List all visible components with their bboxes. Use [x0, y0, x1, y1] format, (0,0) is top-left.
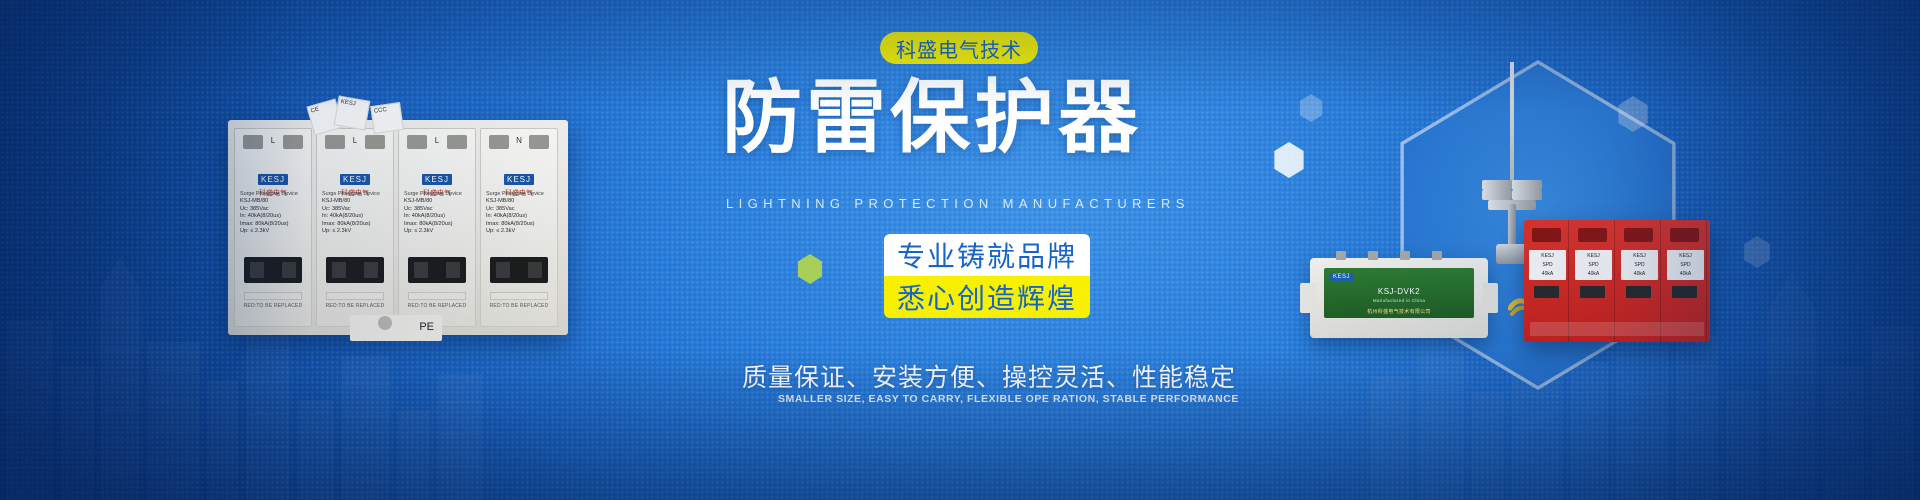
indicator-window — [244, 257, 302, 283]
spec-up: Up: ≤ 2.3kV — [404, 228, 470, 235]
indicator-window — [408, 257, 466, 283]
spec-uc: Uc: 385Vac — [486, 206, 552, 213]
status-bar — [244, 292, 302, 300]
spd-spec-4: Surge Protective Device KSJ-MB/80 Uc: 38… — [486, 191, 552, 235]
spd-module-1: L KESJ 科盛电气 Surge Protective Device KSJ-… — [234, 128, 312, 327]
red-label-type: SPD — [1529, 262, 1566, 268]
pcb-face: KESJ KSJ-DVK2 Manufactured in China 杭州科盛… — [1324, 268, 1474, 318]
red-label-brand: KESJ — [1529, 253, 1566, 259]
hexagon-accent-2 — [1298, 94, 1324, 122]
red-label-brand: KESJ — [1667, 253, 1704, 259]
red-label-brand: KESJ — [1621, 253, 1658, 259]
slogan-line-1: 专业铸就品牌 — [884, 234, 1090, 276]
feature-list-en: SMALLER SIZE, EASY TO CARRY, FLEXIBLE OP… — [778, 393, 1239, 405]
status-bar — [326, 292, 384, 300]
spec-uc: Uc: 385Vac — [404, 206, 470, 213]
red-label-rating: 40kA — [1529, 271, 1566, 277]
spec-imax: Imax: 80kA(8/20us) — [322, 221, 388, 228]
spec-up: Up: ≤ 2.3kV — [322, 228, 388, 235]
banner-root: L KESJ 科盛电气 Surge Protective Device KSJ-… — [0, 0, 1920, 500]
rod-head-assembly — [1482, 180, 1542, 206]
spec-up: Up: ≤ 2.3kV — [486, 228, 552, 235]
rod-mast — [1510, 62, 1514, 188]
spec-imax: Imax: 80kA(8/20us) — [240, 221, 306, 228]
signal-spd-box: KESJ KSJ-DVK2 Manufactured in China 杭州科盛… — [1310, 258, 1488, 338]
indicator-window — [326, 257, 384, 283]
red-label-rating: 40kA — [1575, 271, 1612, 277]
greenbox-brand: KESJ — [1330, 273, 1353, 281]
spec-up: Up: ≤ 2.3kV — [240, 228, 306, 235]
spd-module-4: N KESJ 科盛电气 Surge Protective Device KSJ-… — [480, 128, 558, 327]
red-label-type: SPD — [1621, 262, 1658, 268]
replace-note-4: RED:TO BE REPLACED — [481, 303, 557, 309]
spd-pole-label-1: L — [235, 136, 311, 145]
replace-note-3: RED:TO BE REPLACED — [399, 303, 475, 309]
spec-in: In: 40kA(8/20us) — [404, 213, 470, 220]
spec-type: Surge Protective Device — [322, 191, 388, 198]
spec-model: KSJ-MB/80 — [486, 198, 552, 205]
feature-list-cn: 质量保证、安装方便、操控灵活、性能稳定 — [742, 358, 1236, 394]
slogan-line-2: 悉心创造辉煌 — [884, 276, 1090, 318]
slogan-block: 专业铸就品牌 悉心创造辉煌 — [884, 234, 1090, 318]
hexagon-accent-4 — [1742, 236, 1772, 268]
red-label-type: SPD — [1575, 262, 1612, 268]
indicator-window — [490, 257, 548, 283]
brand-mark: KESJ — [340, 174, 370, 185]
page-title: 防雷保护器 — [722, 78, 1142, 158]
subtitle-english: LIGHTNING PROTECTION MANUFACTURERS — [726, 196, 1190, 211]
spec-uc: Uc: 385Vac — [322, 206, 388, 213]
pe-label: PE — [419, 321, 434, 333]
spec-model: KSJ-MB/80 — [240, 198, 306, 205]
spec-model: KSJ-MB/80 — [322, 198, 388, 205]
spd-spec-2: Surge Protective Device KSJ-MB/80 Uc: 38… — [322, 191, 388, 235]
rod-pole — [1508, 204, 1516, 246]
greenbox-model: KSJ-DVK2 — [1324, 287, 1474, 296]
spec-type: Surge Protective Device — [240, 191, 306, 198]
replace-note-1: RED:TO BE REPLACED — [235, 303, 311, 309]
pe-terminal-block: PE — [350, 315, 442, 341]
spd-module-3: L KESJ 科盛电气 Surge Protective Device KSJ-… — [398, 128, 476, 327]
spec-in: In: 40kA(8/20us) — [486, 213, 552, 220]
spd-spec-1: Surge Protective Device KSJ-MB/80 Uc: 38… — [240, 191, 306, 235]
pe-screw — [378, 316, 392, 330]
spec-model: KSJ-MB/80 — [404, 198, 470, 205]
status-bar — [490, 292, 548, 300]
brand-mark: KESJ — [422, 174, 452, 185]
red-surge-protector: KESJ SPD 40kA KESJ SPD 40kA KESJ SPD 40k… — [1524, 220, 1710, 342]
surge-protector-assembly: L KESJ 科盛电气 Surge Protective Device KSJ-… — [228, 120, 568, 335]
hexagon-accent-1 — [1272, 142, 1306, 178]
spd-module-2: L KESJ 科盛电气 Surge Protective Device KSJ-… — [316, 128, 394, 327]
spd-pole-label-4: N — [481, 136, 557, 145]
spec-imax: Imax: 80kA(8/20us) — [404, 221, 470, 228]
red-label-type: SPD — [1667, 262, 1704, 268]
red-label-rating: 40kA — [1667, 271, 1704, 277]
red-label-brand: KESJ — [1575, 253, 1612, 259]
red-label-rating: 40kA — [1621, 271, 1658, 277]
greenbox-sub: Manufactured in China — [1324, 298, 1474, 303]
status-bar — [408, 292, 466, 300]
spec-type: Surge Protective Device — [486, 191, 552, 198]
spec-imax: Imax: 80kA(8/20us) — [486, 221, 552, 228]
brand-mark: KESJ — [258, 174, 288, 185]
spec-type: Surge Protective Device — [404, 191, 470, 198]
brand-mark: KESJ — [504, 174, 534, 185]
spec-in: In: 40kA(8/20us) — [240, 213, 306, 220]
greenbox-company: 杭州科盛电气技术有限公司 — [1324, 308, 1474, 315]
hexagon-bullet-icon — [796, 254, 824, 284]
hang-tag-ccc: CCC — [370, 102, 404, 134]
spd-spec-3: Surge Protective Device KSJ-MB/80 Uc: 38… — [404, 191, 470, 235]
brand-badge: 科盛电气技术 — [880, 32, 1038, 64]
spec-uc: Uc: 385Vac — [240, 206, 306, 213]
hang-tag-brand: KESJ — [334, 95, 371, 130]
replace-note-2: RED:TO BE REPLACED — [317, 303, 393, 309]
hang-tags: CE KESJ CCC — [306, 98, 456, 146]
spec-in: In: 40kA(8/20us) — [322, 213, 388, 220]
